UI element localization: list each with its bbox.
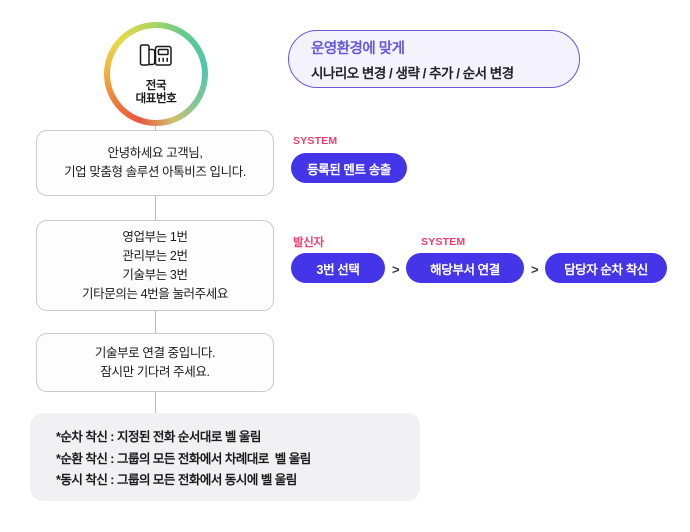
chevron-separator-1: > xyxy=(392,263,400,276)
desk-phone-icon xyxy=(139,42,173,77)
pill-play-recorded-announcement[interactable]: 등록된 멘트 송출 xyxy=(291,153,407,183)
legend-line-simultaneous: *동시 착신 : 그룹의 모든 전화에서 동시에 벨 울림 xyxy=(56,470,420,492)
callout-heading: 운영환경에 맞게 xyxy=(311,37,557,58)
root-node-label: 전국 대표번호 xyxy=(136,80,177,106)
root-node-national-number[interactable]: 전국 대표번호 xyxy=(104,22,208,126)
chevron-separator-2: > xyxy=(531,263,539,276)
connector-step2-to-step3 xyxy=(155,311,156,333)
callout-subtext: 시나리오 변경 / 생략 / 추가 / 순서 변경 xyxy=(311,62,557,82)
script-box-connecting-notice[interactable]: 기술부로 연결 중입니다. 잠시만 기다려 주세요. xyxy=(36,333,274,392)
legend-line-sequential: *순차 착신 : 지정된 전화 순서대로 벨 울림 xyxy=(56,427,420,449)
script-box-greeting[interactable]: 안녕하세요 고객님, 기업 맞춤형 솔루션 아톡비즈 입니다. xyxy=(36,130,274,196)
pill-sequential-ring-to-agent[interactable]: 담당자 순차 착신 xyxy=(545,253,667,283)
script-box-department-menu[interactable]: 영업부는 1번 관리부는 2번 기술부는 3번 기타문의는 4번을 눌러주세요 xyxy=(36,220,274,311)
diagram-canvas: 전국 대표번호 운영환경에 맞게 시나리오 변경 / 생략 / 추가 / 순서 … xyxy=(0,0,690,532)
role-label-caller-2: 발신자 xyxy=(293,234,324,250)
root-node-inner: 전국 대표번호 xyxy=(110,28,202,120)
role-label-system-2: SYSTEM xyxy=(421,236,465,248)
role-label-system-1: SYSTEM xyxy=(293,135,337,147)
connector-step1-to-step2 xyxy=(155,196,156,220)
legend-ring-types: *순차 착신 : 지정된 전화 순서대로 벨 울림 *순환 착신 : 그룹의 모… xyxy=(30,413,420,501)
callout-operating-environment: 운영환경에 맞게 시나리오 변경 / 생략 / 추가 / 순서 변경 xyxy=(288,30,580,88)
pill-connect-to-department[interactable]: 해당부서 연결 xyxy=(406,253,524,283)
legend-line-circular: *순환 착신 : 그룹의 모든 전화에서 차례대로 벨 울림 xyxy=(56,449,420,471)
pill-select-option-3[interactable]: 3번 선택 xyxy=(291,253,385,283)
connector-step3-to-legend xyxy=(155,392,156,413)
